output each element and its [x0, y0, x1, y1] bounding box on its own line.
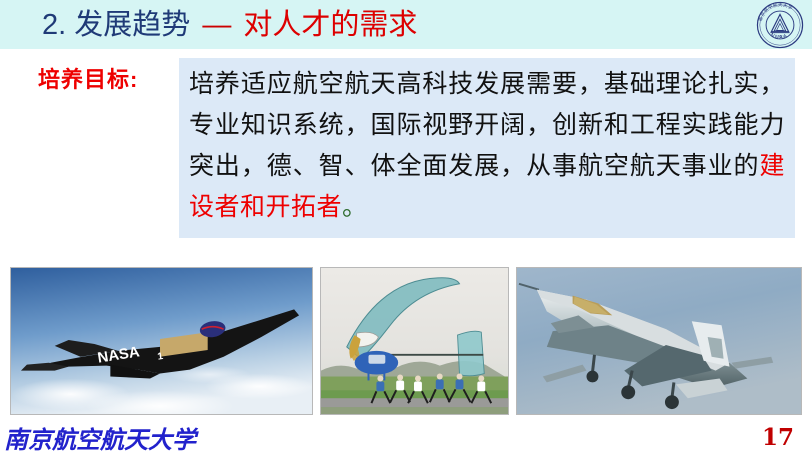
page-title-subtitle: 对人才的需求 — [243, 9, 417, 41]
footer-university-name: 南京航空航天大学 — [4, 420, 196, 455]
goal-label: 培养目标: — [38, 62, 138, 94]
page-title: 2. 发展趋势 — 对人才的需求 — [42, 6, 417, 44]
photo-human-powered-aircraft — [320, 267, 509, 415]
page-title-dash: — — [198, 9, 235, 41]
photo-nasa-x43a: NASA 1 — [10, 267, 313, 415]
page-title-main: 发展趋势 — [74, 9, 190, 41]
page-number: 17 — [762, 424, 794, 451]
nuaa-logo-icon: 1952 NUAA 南京航空航天大学 — [756, 1, 804, 49]
goal-text-period: 。 — [342, 192, 368, 221]
goal-text-content: 培养适应航空航天高科技发展需要，基础理论扎实，专业知识系统，国际视野开阔，创新和… — [189, 63, 785, 227]
page-title-number: 2. — [42, 9, 66, 41]
photo-j10-fighter — [516, 267, 802, 415]
goal-text-box: 培养适应航空航天高科技发展需要，基础理论扎实，专业知识系统，国际视野开阔，创新和… — [179, 58, 795, 238]
goal-text-part-normal: 培养适应航空航天高科技发展需要，基础理论扎实，专业知识系统，国际视野开阔，创新和… — [189, 69, 785, 180]
